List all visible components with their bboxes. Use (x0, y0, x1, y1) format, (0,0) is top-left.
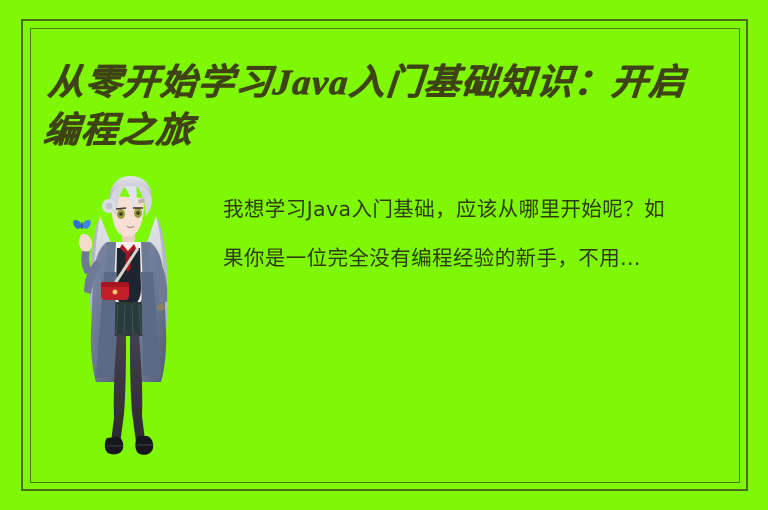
page-title: 从零开始学习Java入门基础知识：开启编程之旅 (42, 58, 722, 154)
article-card: 从零开始学习Java入门基础知识：开启编程之旅 (0, 0, 768, 510)
article-excerpt: 我想学习Java入门基础，应该从哪里开始呢？如果你是一位完全没有编程经验的新手，… (223, 185, 683, 283)
butterfly-icon (73, 220, 91, 229)
anime-girl-illustration (60, 176, 196, 468)
